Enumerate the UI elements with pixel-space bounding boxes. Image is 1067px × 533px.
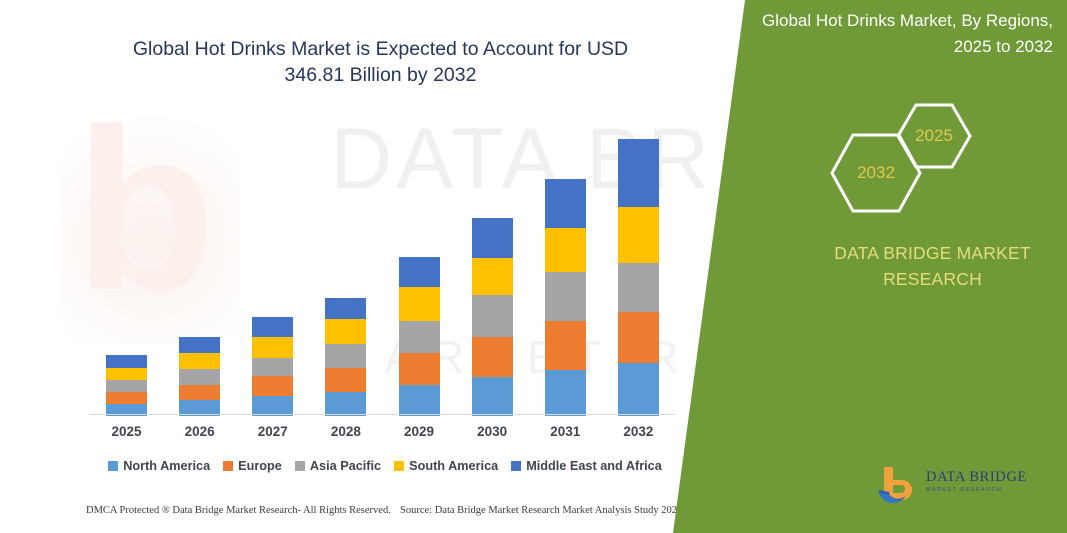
legend-label: Middle East and Africa (526, 459, 662, 473)
bar-2029[interactable] (399, 257, 440, 416)
bar-2026[interactable] (179, 337, 220, 416)
bar-segment (545, 370, 586, 416)
bar-segment (545, 228, 586, 272)
x-axis-label-2026: 2026 (165, 424, 235, 439)
bar-2028[interactable] (325, 298, 366, 416)
bar-segment (179, 385, 220, 401)
chart-panel: Global Hot Drinks Market is Expected to … (0, 0, 760, 533)
x-axis-label-2030: 2030 (457, 424, 527, 439)
legend-label: North America (123, 459, 210, 473)
logo-text: DATA BRIDGE (926, 469, 1041, 486)
bar-2031[interactable] (545, 178, 586, 416)
legend-item[interactable]: Middle East and Africa (511, 459, 662, 473)
legend-swatch-icon (394, 461, 404, 471)
legend-label: Asia Pacific (310, 459, 381, 473)
bar-segment (618, 263, 659, 312)
footer: DMCA Protected ® Data Bridge Market Rese… (0, 505, 707, 527)
bar-segment (472, 218, 513, 258)
bar-2032[interactable] (618, 139, 659, 416)
bar-segment (106, 380, 147, 392)
bar-segment (399, 321, 440, 353)
bar-2030[interactable] (472, 218, 513, 416)
bar-segment (325, 392, 366, 416)
chart-title: Global Hot Drinks Market is Expected to … (108, 36, 653, 88)
x-axis-label-2031: 2031 (530, 424, 600, 439)
bar-segment (252, 317, 293, 336)
x-axis-label-2025: 2025 (92, 424, 162, 439)
chart-legend: North AmericaEuropeAsia PacificSouth Ame… (90, 455, 680, 477)
hexagon-2025-label: 2025 (896, 126, 972, 146)
bar-2025[interactable] (106, 355, 147, 416)
bar-segment (106, 392, 147, 404)
bar-segment (399, 287, 440, 321)
legend-item[interactable]: South America (394, 459, 498, 473)
bar-segment (325, 344, 366, 368)
bar-segment (325, 368, 366, 392)
bar-segment (545, 179, 586, 229)
brand-name: DATA BRIDGE MARKET RESEARCH (795, 240, 1067, 292)
infographic-canvas: b DATA BRIDGE MARKET RESEARCH Global Hot… (0, 0, 1067, 533)
bar-segment (399, 257, 440, 287)
bar-segment (179, 337, 220, 353)
bar-segment (618, 207, 659, 264)
bar-segment (472, 377, 513, 416)
bar-segment (472, 295, 513, 337)
bar-segment (618, 139, 659, 207)
bar-segment (545, 272, 586, 321)
right-panel-heading: Global Hot Drinks Market, By Regions, 20… (728, 8, 1053, 60)
bar-segment (252, 376, 293, 396)
bar-segment (106, 355, 147, 368)
x-axis-label-2029: 2029 (384, 424, 454, 439)
x-axis-label-2032: 2032 (603, 424, 673, 439)
bar-segment (472, 258, 513, 295)
x-axis-label-2027: 2027 (238, 424, 308, 439)
stacked-bar-chart (90, 120, 675, 416)
hexagon-2025: 2025 (896, 103, 972, 169)
bar-segment (618, 312, 659, 363)
bar-2027[interactable] (252, 317, 293, 416)
legend-item[interactable]: Europe (223, 459, 282, 473)
footer-source: Source: Data Bridge Market Research Mark… (400, 505, 682, 516)
bar-segment (545, 321, 586, 370)
bar-segment (179, 369, 220, 385)
bar-segment (106, 368, 147, 380)
x-axis: 20252026202720282029203020312032 (90, 424, 675, 448)
x-axis-label-2028: 2028 (311, 424, 381, 439)
legend-label: Europe (238, 459, 282, 473)
bar-segment (399, 385, 440, 416)
bar-segment (325, 319, 366, 344)
bar-segment (399, 353, 440, 385)
bar-segment (252, 358, 293, 376)
legend-swatch-icon (108, 461, 118, 471)
data-bridge-logo: DATA BRIDGE MARKET RESEARCH (876, 463, 1041, 507)
legend-swatch-icon (223, 461, 233, 471)
bar-segment (325, 298, 366, 319)
bar-segment (472, 337, 513, 377)
bar-segment (179, 353, 220, 369)
footer-copyright: DMCA Protected ® Data Bridge Market Rese… (86, 505, 391, 516)
legend-label: South America (409, 459, 498, 473)
chart-baseline (90, 414, 675, 415)
legend-item[interactable]: Asia Pacific (295, 459, 381, 473)
legend-swatch-icon (295, 461, 305, 471)
legend-swatch-icon (511, 461, 521, 471)
logo-mark-icon (876, 463, 920, 507)
logo-subtext: MARKET RESEARCH (926, 487, 1044, 493)
bar-segment (252, 337, 293, 359)
bar-segment (618, 363, 659, 416)
legend-item[interactable]: North America (108, 459, 210, 473)
